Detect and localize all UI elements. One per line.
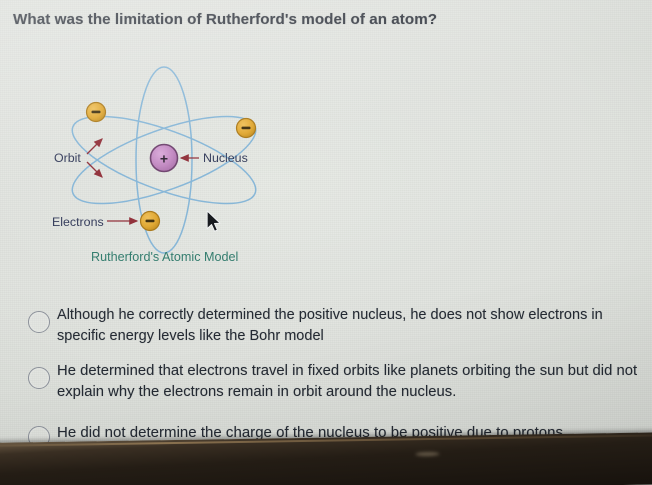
answer-option[interactable]: Although he correctly determined the pos… [28, 305, 617, 346]
question-text: What was the limitation of Rutherford's … [13, 11, 613, 28]
answer-option-label[interactable]: Although he correctly determined the pos… [57, 305, 617, 346]
label-nucleus: Nucleus [203, 151, 248, 165]
electron-charge-symbol [146, 220, 155, 223]
rutherford-atom-diagram: + Orbit Nuc [40, 50, 340, 280]
bezel-specular-highlight [415, 452, 439, 456]
label-orbit: Orbit [54, 151, 81, 165]
answer-option[interactable]: He determined that electrons travel in f… [28, 361, 652, 403]
electron-particle-top-left [87, 103, 106, 122]
diagram-caption: Rutherford's Atomic Model [91, 250, 238, 264]
nucleus-charge-symbol: + [160, 151, 168, 167]
electron-particle-bottom [141, 212, 160, 231]
label-electrons: Electrons [52, 215, 104, 229]
electron-particle-right [237, 119, 256, 138]
quiz-screen: What was the limitation of Rutherford's … [0, 0, 652, 485]
orbit-arrow-upper [87, 139, 102, 154]
electron-charge-symbol [92, 111, 101, 114]
nucleus-particle: + [151, 145, 178, 172]
radio-button-option-a[interactable] [28, 311, 50, 333]
answer-option-label[interactable]: He determined that electrons travel in f… [57, 361, 652, 403]
orbit-arrow-lower [87, 162, 102, 177]
callout-arrows [87, 139, 199, 221]
radio-button-option-b[interactable] [28, 367, 50, 389]
electron-charge-symbol [242, 127, 251, 130]
